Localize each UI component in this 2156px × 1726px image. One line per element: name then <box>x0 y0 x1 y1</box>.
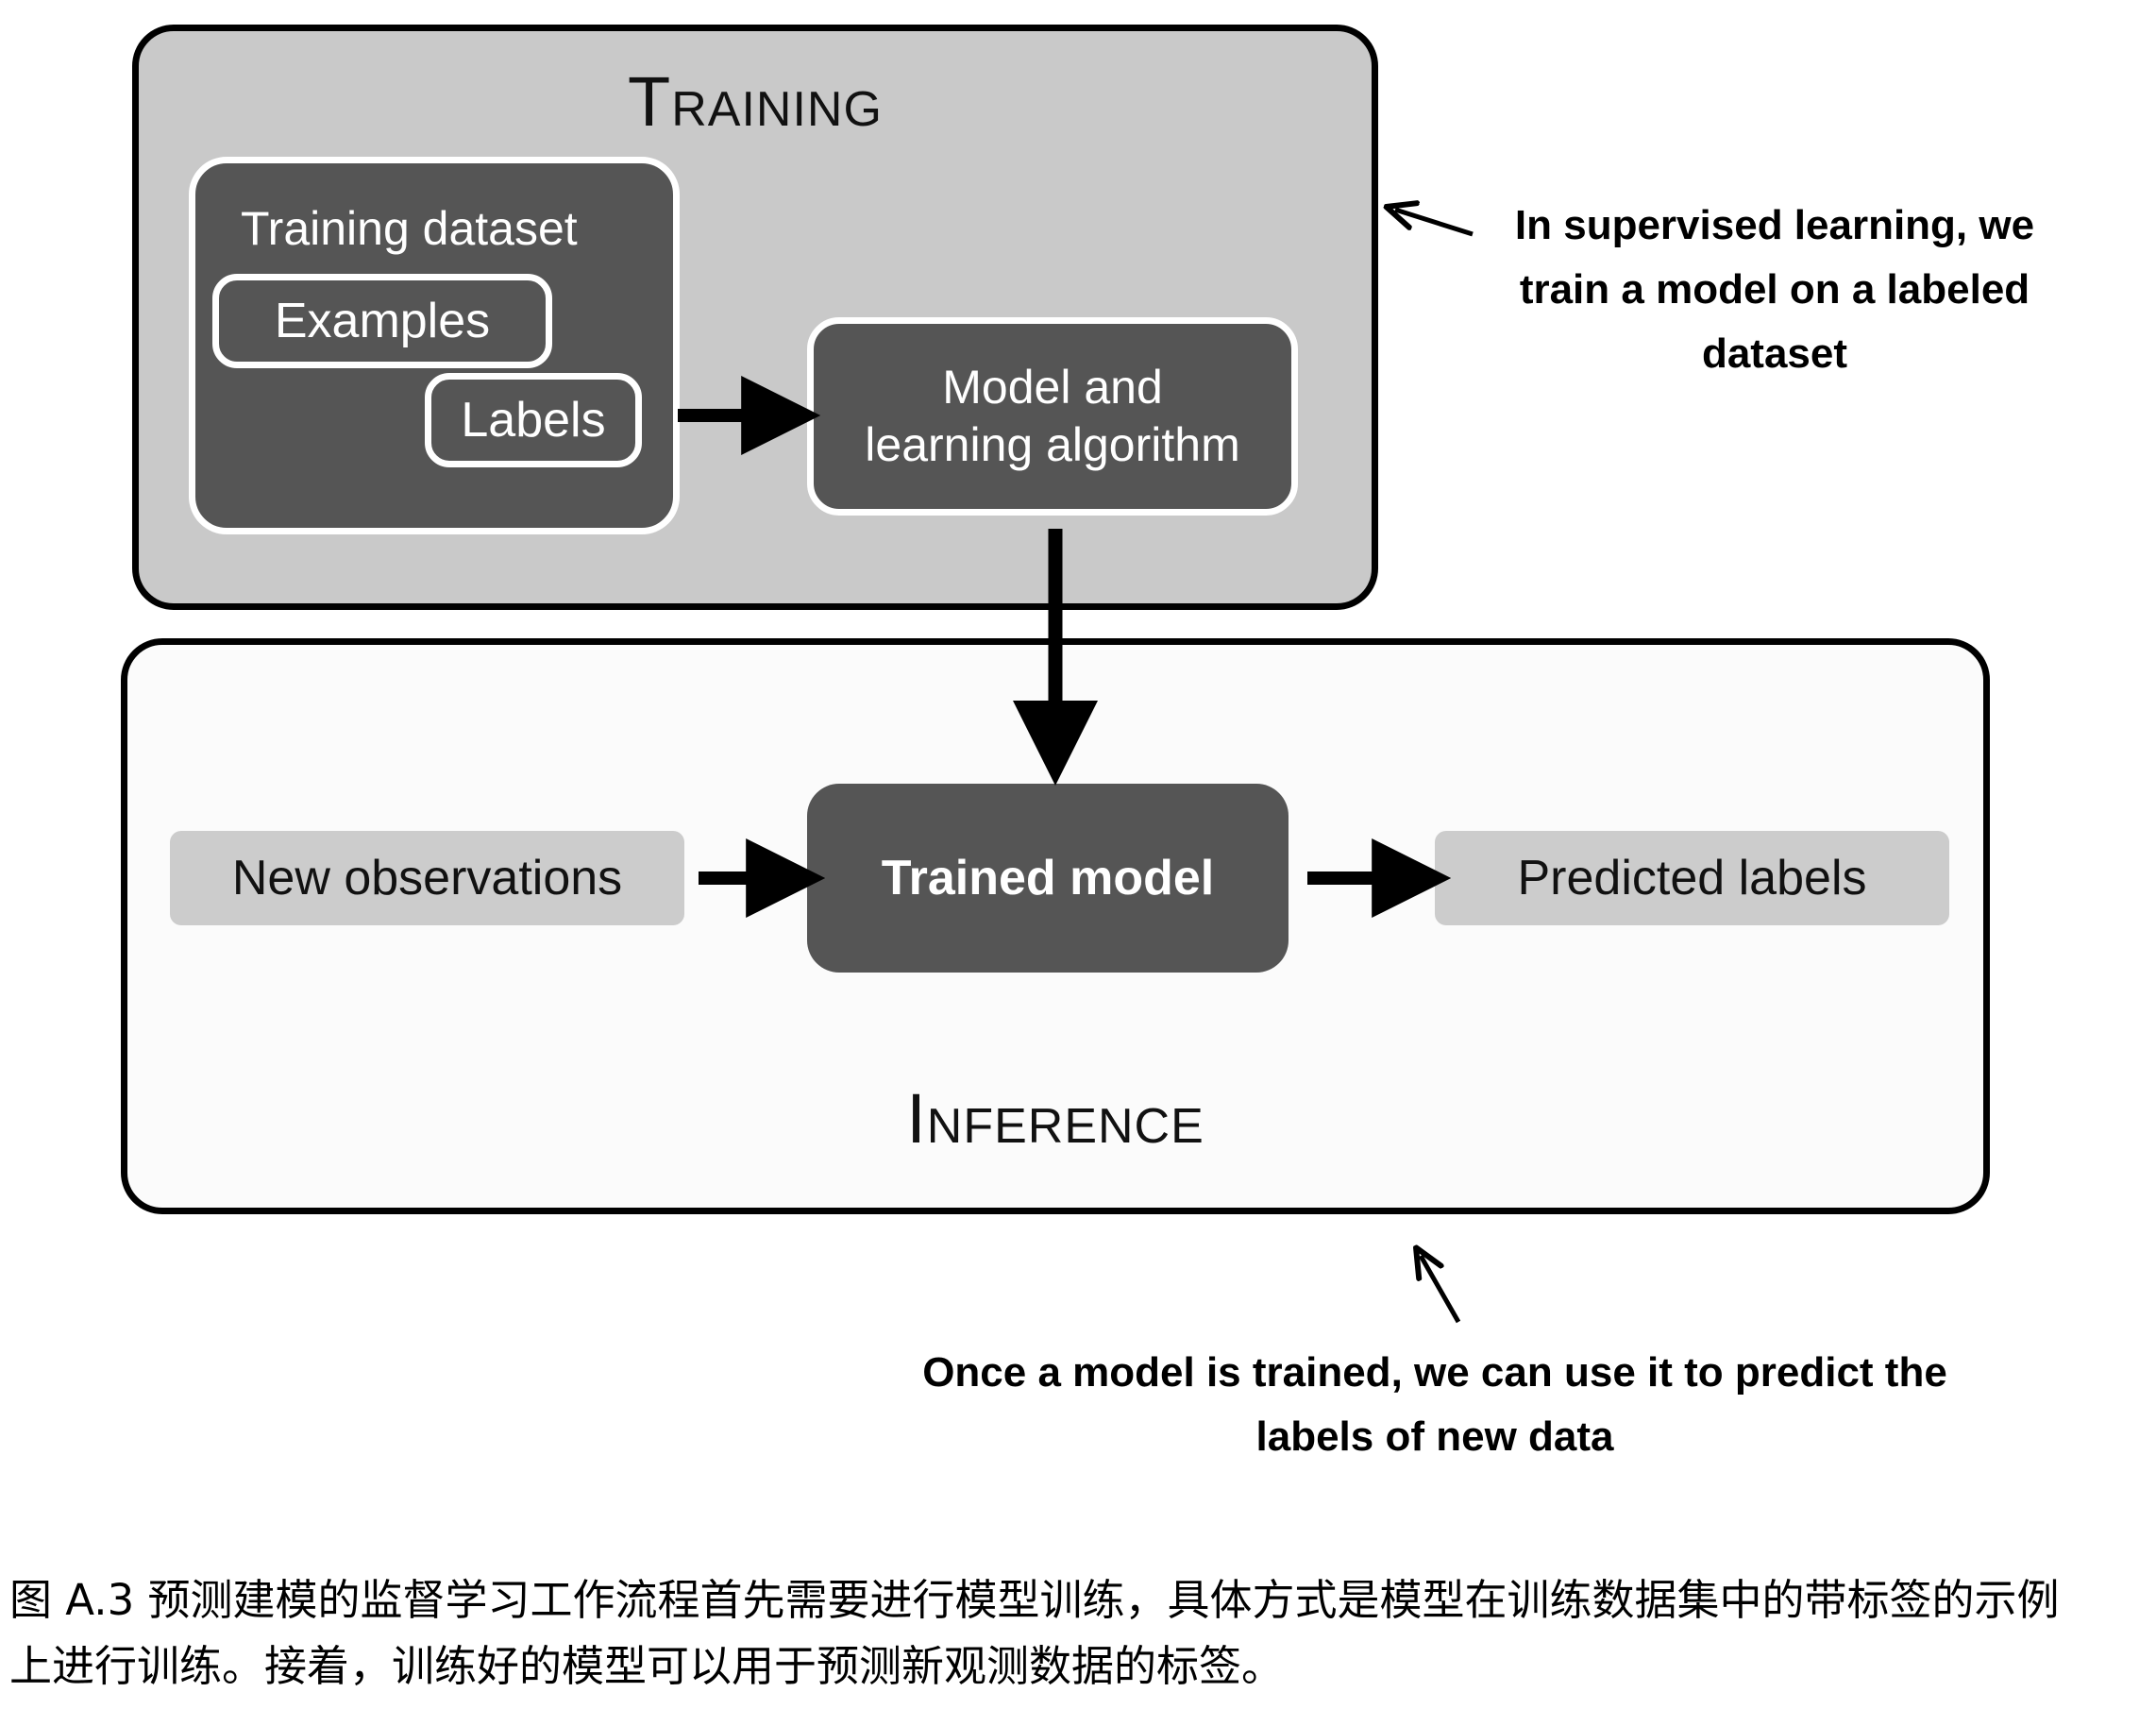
figure-caption: 图 A.3 预测建模的监督学习工作流程首先需要进行模型训练，具体方式是模型在训练… <box>9 1567 2086 1700</box>
leader-line-top-note <box>1395 210 1473 234</box>
annotation-top-note: In supervised learning, we train a model… <box>1482 194 2067 387</box>
trained-model-label: Trained model <box>882 850 1215 906</box>
examples-label: Examples <box>275 293 490 349</box>
leader-line-bottom-note <box>1421 1256 1458 1322</box>
predicted-labels-label: Predicted labels <box>1518 850 1867 906</box>
model-box-line-1: Model and <box>942 359 1163 416</box>
model-and-learning-algorithm-box: Model and learning algorithm <box>807 317 1298 516</box>
annotation-bottom-note: Once a model is trained, we can use it t… <box>878 1341 1992 1469</box>
figure-supervised-learning-workflow: Training Training dataset Examples Label… <box>0 0 2156 1726</box>
training-dataset-label: Training dataset <box>241 201 578 256</box>
predicted-labels-box: Predicted labels <box>1435 831 1949 925</box>
examples-box: Examples <box>212 274 552 368</box>
inference-panel-title: Inference <box>127 1078 1983 1159</box>
trained-model-box: Trained model <box>807 784 1289 973</box>
model-box-line-2: learning algorithm <box>865 416 1239 474</box>
labels-box: Labels <box>425 373 642 467</box>
labels-label: Labels <box>461 392 605 448</box>
new-observations-box: New observations <box>170 831 684 925</box>
training-panel-title: Training <box>139 61 1372 142</box>
new-observations-label: New observations <box>232 850 622 906</box>
